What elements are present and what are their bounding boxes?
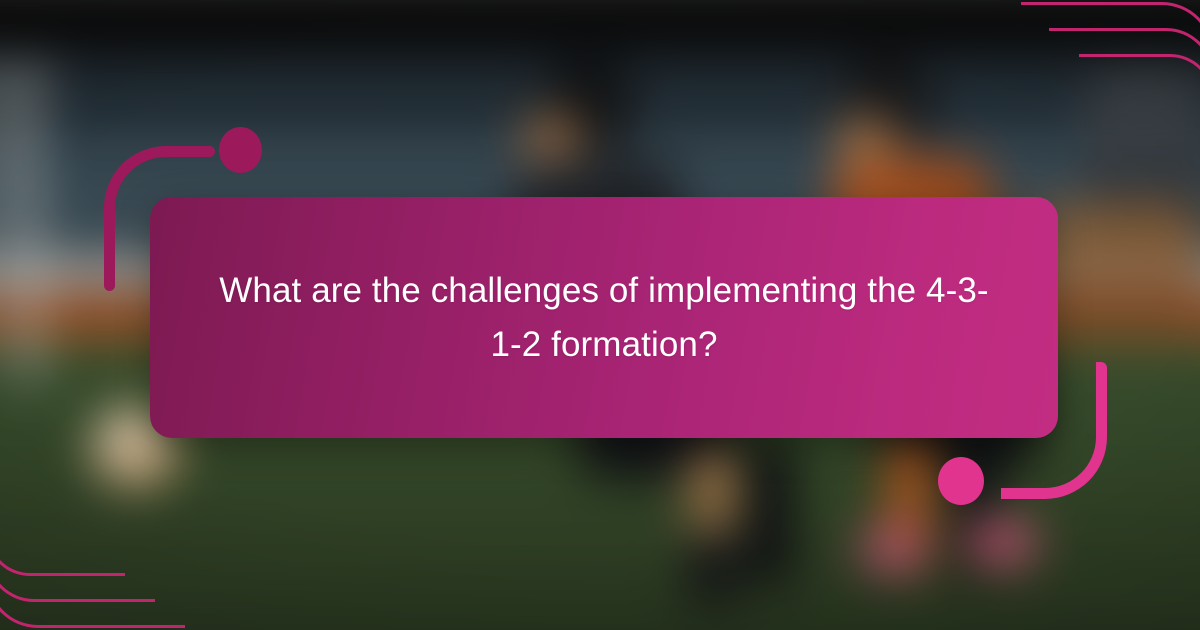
accent-dot-bottom-right xyxy=(938,457,984,505)
question-card: What are the challenges of implementing … xyxy=(150,197,1058,438)
question-text: What are the challenges of implementing … xyxy=(214,264,994,370)
question-card-graphic: What are the challenges of implementing … xyxy=(0,0,1200,630)
accent-dot-top-left xyxy=(219,127,262,173)
accent-bracket-bottom-right xyxy=(1001,362,1107,499)
